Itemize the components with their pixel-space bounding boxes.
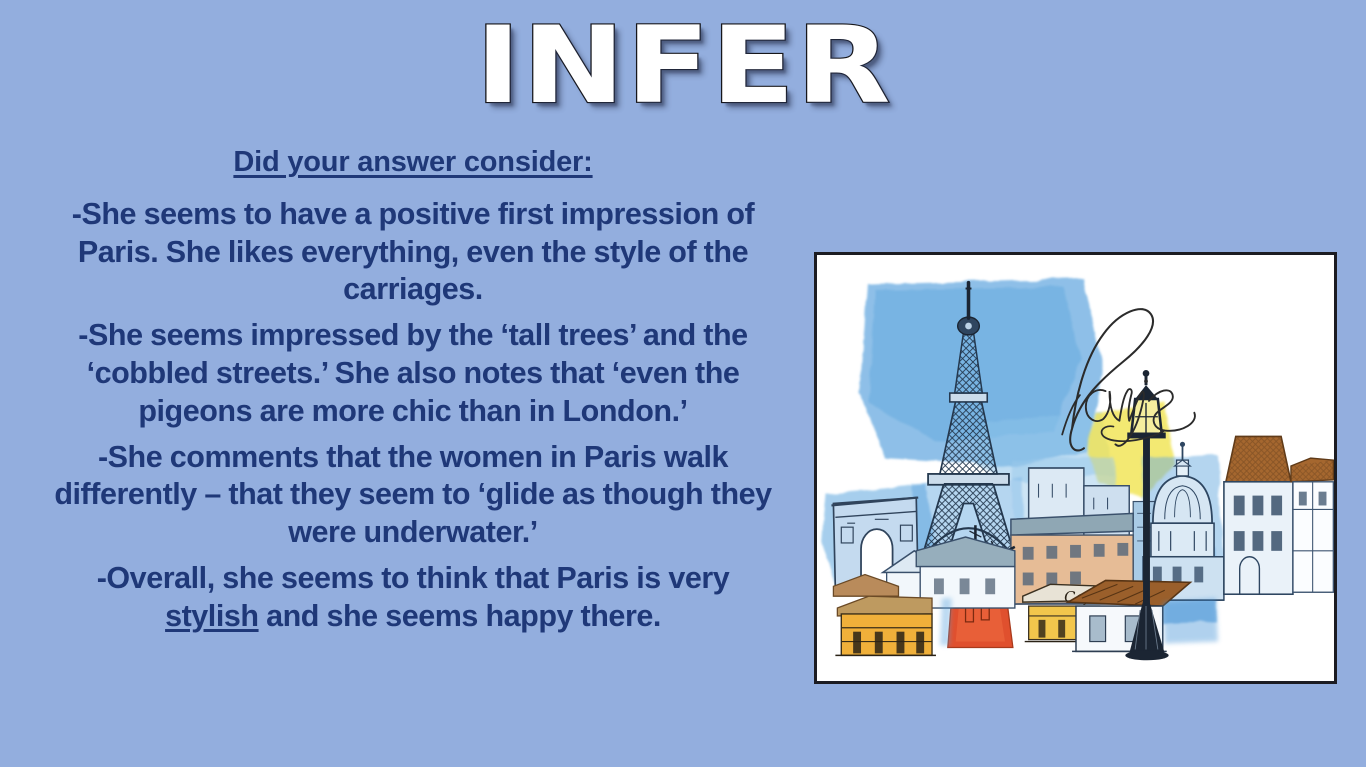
title-block: INFER [0, 8, 1366, 120]
bullet-4-prefix: -Overall, she seems to think that Paris … [97, 561, 730, 595]
haussmann-buildings [1224, 436, 1333, 594]
paris-skyline-illustration: Café [817, 255, 1334, 681]
body-text-column: Did your answer consider: -She seems to … [54, 144, 772, 636]
bullet-paragraph-2: -She seems impressed by the ‘tall trees’… [54, 317, 772, 430]
consider-heading: Did your answer consider: [54, 144, 772, 182]
bullet-paragraph-1: -She seems to have a positive first impr… [54, 196, 772, 309]
bullet-4-suffix: and she seems happy there. [259, 599, 661, 633]
paris-illustration-frame: Café [814, 252, 1337, 684]
bullet-paragraph-4: -Overall, she seems to think that Paris … [54, 560, 772, 636]
slide-canvas: INFER Did your answer consider: -She see… [0, 0, 1366, 767]
bullet-4-emphasis: stylish [165, 599, 258, 633]
bullet-paragraph-3: -She comments that the women in Paris wa… [54, 439, 772, 552]
page-title: INFER [475, 8, 891, 123]
